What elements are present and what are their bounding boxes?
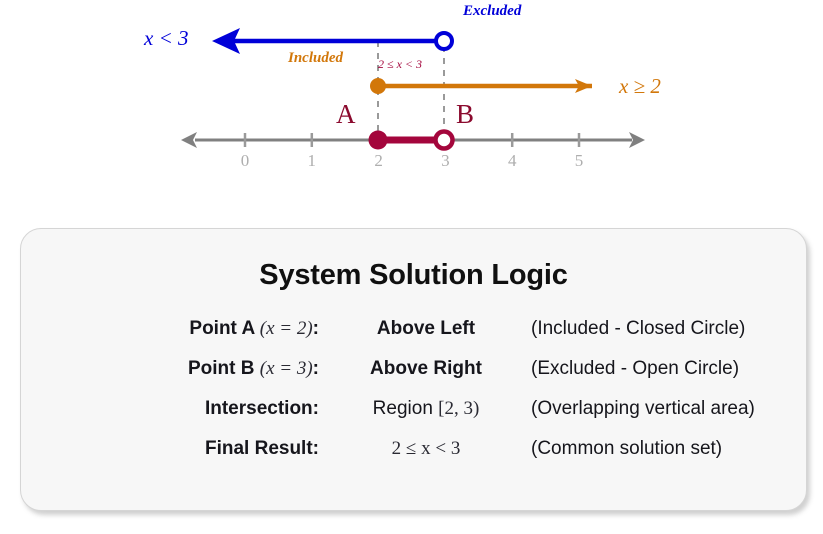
excluded-annotation: Excluded — [463, 4, 521, 19]
included-annotation: Included — [288, 51, 343, 66]
row-value-point-b: Above Right — [341, 358, 511, 380]
row-value-intersection: Region [2, 3) — [341, 398, 511, 420]
row-label-math-b: (x = 3) — [260, 358, 313, 379]
number-line-figure: x < 3 Excluded Included x ≥ 2 2 ≤ x < 3 … — [0, 0, 823, 200]
solution-segment-2-to-3 — [369, 131, 453, 150]
row-label-math-a: (x = 2) — [260, 318, 313, 339]
logic-row-point-b: Point B (x = 3): Above Right (Excluded -… — [21, 358, 806, 380]
row-label-final-result: Final Result: — [21, 438, 341, 460]
row-label-text-final: Final Result — [205, 438, 313, 459]
segment-closed-endpoint-2 — [369, 131, 388, 150]
row-value-point-a: Above Left — [341, 318, 511, 340]
tick-label-4: 4 — [508, 152, 517, 169]
closed-circle-at-2 — [370, 78, 386, 94]
row-note-intersection: (Overlapping vertical area) — [511, 398, 806, 420]
logic-rows: Point A (x = 2): Above Left (Included - … — [21, 318, 806, 460]
row-value-pre-intersection: Region — [373, 398, 439, 419]
row-value-final-result: 2 ≤ x < 3 — [341, 438, 511, 460]
row-label-text-intersection: Intersection — [205, 398, 313, 419]
solution-logic-card: System Solution Logic Point A (x = 2): A… — [20, 228, 807, 511]
row-label-point-b: Point B (x = 3): — [21, 358, 341, 380]
logic-row-intersection: Intersection: Region [2, 3) (Overlapping… — [21, 398, 806, 420]
orange-ray-label: x ≥ 2 — [619, 76, 661, 97]
row-note-final-result: (Common solution set) — [511, 438, 806, 460]
intersection-inline-label: 2 ≤ x < 3 — [378, 58, 422, 70]
segment-open-endpoint-3 — [436, 132, 453, 149]
row-label-intersection: Intersection: — [21, 398, 341, 420]
row-value-math-final: 2 ≤ x < 3 — [392, 438, 461, 459]
diagram-page: x < 3 Excluded Included x ≥ 2 2 ≤ x < 3 … — [0, 0, 823, 534]
row-label-text-b: Point B — [188, 358, 260, 379]
row-note-point-b: (Excluded - Open Circle) — [511, 358, 806, 380]
tick-label-0: 0 — [241, 152, 250, 169]
tick-label-5: 5 — [575, 152, 584, 169]
row-label-tail-b: : — [313, 358, 319, 379]
figure-canvas — [0, 0, 823, 200]
logic-row-point-a: Point A (x = 2): Above Left (Included - … — [21, 318, 806, 340]
row-label-text-a: Point A — [189, 318, 259, 339]
row-label-point-a: Point A (x = 2): — [21, 318, 341, 340]
point-b-marker-label: B — [456, 101, 474, 128]
blue-ray-label: x < 3 — [144, 28, 189, 49]
open-circle-at-3 — [436, 33, 452, 49]
row-label-tail-final: : — [313, 438, 319, 459]
row-label-tail-a: : — [313, 318, 319, 339]
orange-ray-x-greater-equal-2 — [370, 78, 592, 94]
row-value-math-intersection: [2, 3) — [438, 398, 479, 419]
row-label-tail-intersection: : — [313, 398, 319, 419]
tick-label-1: 1 — [308, 152, 317, 169]
card-title: System Solution Logic — [21, 259, 806, 292]
logic-row-final-result: Final Result: 2 ≤ x < 3 (Common solution… — [21, 438, 806, 460]
tick-label-3: 3 — [441, 152, 450, 169]
row-note-point-a: (Included - Closed Circle) — [511, 318, 806, 340]
tick-label-2: 2 — [374, 152, 383, 169]
point-a-marker-label: A — [336, 101, 356, 128]
